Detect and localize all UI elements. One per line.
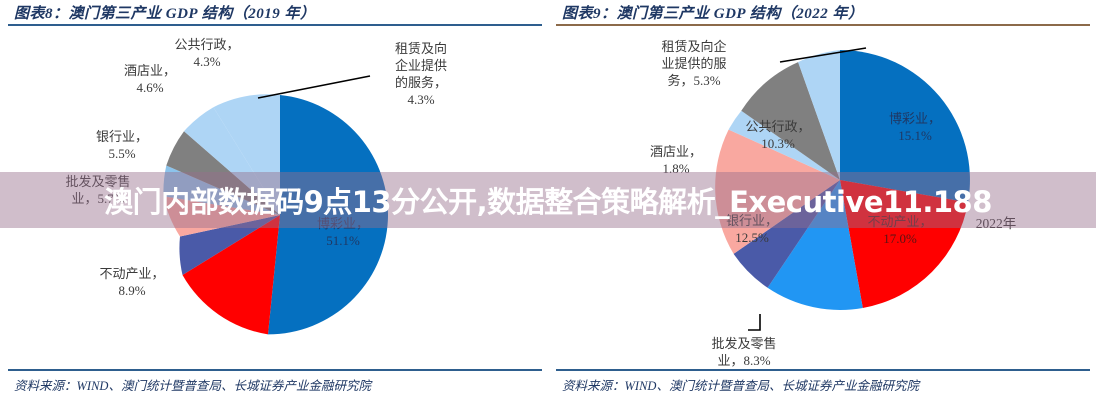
label-hotel: 酒店业， 4.6% xyxy=(100,62,200,96)
label-year-annotation: 2022年 xyxy=(966,215,1026,232)
label-wholesale: 批发及零售 业，8.3% xyxy=(690,335,798,369)
label-hotel: 酒店业， 1.8% xyxy=(630,143,722,177)
right-chart-panel: 图表9：澳门第三产业 GDP 结构（2022 年） xyxy=(548,0,1096,400)
label-realestate: 不动产业， 17.0% xyxy=(850,213,950,247)
label-leasing: 租赁及向企 业提供的服 务，5.3% xyxy=(640,38,748,89)
label-bank: 银行业， 5.5% xyxy=(76,128,168,162)
left-source-note: 资料来源：WIND、澳门统计暨普查局、长城证券产业金融研究院 xyxy=(14,375,371,394)
label-realestate: 不动产业， 8.9% xyxy=(78,265,186,299)
label-gaming: 博彩业， 51.1% xyxy=(296,215,390,249)
label-leasing: 租赁及向 企业提供 的服务， 4.3% xyxy=(378,40,464,108)
label-gaming: 博彩业， 15.1% xyxy=(868,110,962,144)
left-chart-panel: 图表8：澳门第三产业 GDP 结构（2019 年） xyxy=(0,0,548,400)
right-bottom-rule xyxy=(556,369,1090,371)
figure-pair-root: 图表8：澳门第三产业 GDP 结构（2019 年） xyxy=(0,0,1096,400)
label-public-admin: 公共行政， 10.3% xyxy=(728,118,828,152)
right-source-note: 资料来源：WIND、澳门统计暨普查局、长城证券产业金融研究院 xyxy=(562,375,919,394)
right-pie-chart xyxy=(548,0,1096,400)
label-bank: 银行业， 12.5% xyxy=(706,212,798,246)
left-bottom-rule xyxy=(8,369,542,371)
right-pie-svg xyxy=(548,0,1096,400)
label-wholesale: 批发及零售 业，5.7% xyxy=(52,173,144,207)
leader-line-leasing xyxy=(258,76,370,98)
leader-line-wholesale xyxy=(748,314,760,330)
